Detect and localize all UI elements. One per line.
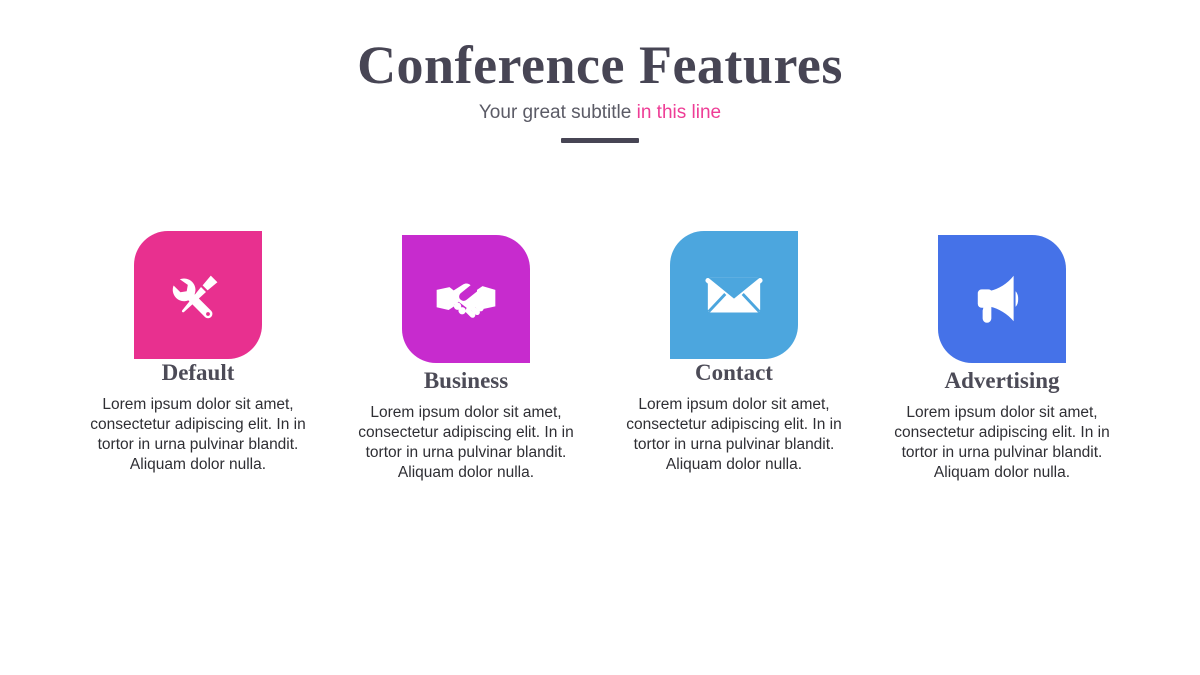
slide-canvas: Conference Features Your great subtitle …: [0, 0, 1200, 675]
slide-header: Conference Features Your great subtitle …: [0, 34, 1200, 143]
feature-card-advertising[interactable]: Advertising Lorem ipsum dolor sit amet, …: [868, 231, 1136, 483]
feature-title: Default: [162, 359, 235, 387]
feature-card-business[interactable]: Business Lorem ipsum dolor sit amet, con…: [332, 231, 600, 483]
feature-description: Lorem ipsum dolor sit amet, consectetur …: [880, 403, 1125, 483]
feature-card-contact[interactable]: Contact Lorem ipsum dolor sit amet, cons…: [600, 231, 868, 475]
feature-card-default[interactable]: Default Lorem ipsum dolor sit amet, cons…: [64, 231, 332, 475]
page-title: Conference Features: [0, 34, 1200, 96]
feature-icon-tile-advertising[interactable]: [938, 235, 1066, 363]
subtitle-plain-text: Your great subtitle: [479, 102, 637, 123]
envelope-icon: [703, 264, 765, 326]
feature-description: Lorem ipsum dolor sit amet, consectetur …: [612, 395, 857, 475]
title-divider: [561, 138, 639, 143]
subtitle-accent-text: in this line: [637, 102, 722, 123]
slide-subtitle: Your great subtitle in this line: [0, 100, 1200, 126]
feature-title: Contact: [695, 359, 773, 387]
feature-description: Lorem ipsum dolor sit amet, consectetur …: [344, 403, 589, 483]
feature-icon-tile-default[interactable]: [134, 231, 262, 359]
feature-icon-tile-contact[interactable]: [670, 231, 798, 359]
feature-title: Advertising: [945, 367, 1060, 395]
feature-icon-tile-business[interactable]: [402, 235, 530, 363]
megaphone-icon: [971, 268, 1033, 330]
feature-title: Business: [424, 367, 508, 395]
feature-list: Default Lorem ipsum dolor sit amet, cons…: [0, 231, 1200, 483]
feature-description: Lorem ipsum dolor sit amet, consectetur …: [76, 395, 321, 475]
tools-icon: [166, 263, 230, 327]
handshake-icon: [433, 266, 499, 332]
